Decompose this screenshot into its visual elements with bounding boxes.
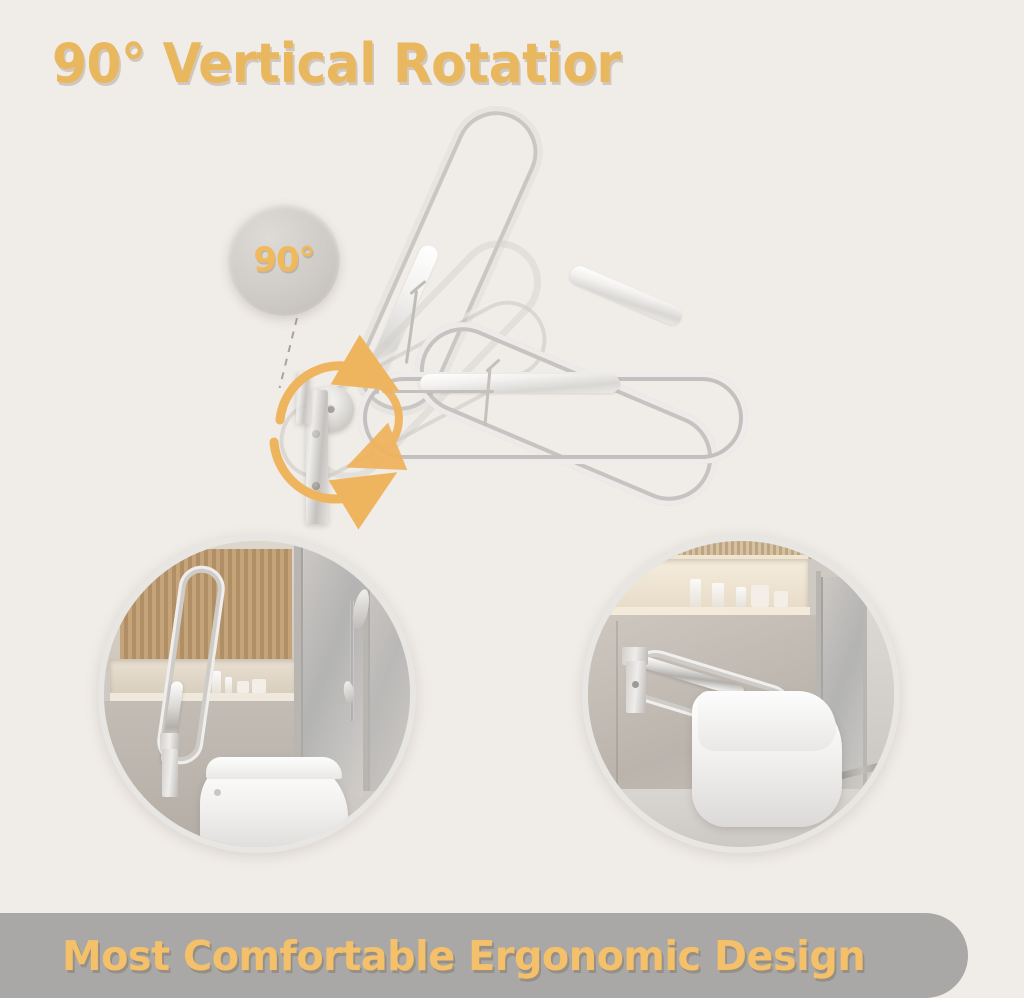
bracket-screw <box>632 681 639 688</box>
bottom-banner-text: Most Comfortable Ergonomic Design <box>62 932 865 980</box>
toiletry-bottle <box>225 677 232 693</box>
hook-accessory-3 <box>382 390 494 393</box>
grip-sleeve-diagonal <box>567 263 685 327</box>
photo-bar-folded-down <box>582 535 900 853</box>
bottom-banner: Most Comfortable Ergonomic Design <box>0 913 968 998</box>
pivot-hinge-pin <box>327 405 335 413</box>
hinge-bracket <box>296 372 310 424</box>
toiletry-jar <box>252 679 266 693</box>
angle-badge: 90° <box>228 204 340 316</box>
hook-accessory-3-tip <box>376 372 379 394</box>
toiletry-jar <box>237 681 249 693</box>
toiletry-bottle <box>736 587 746 607</box>
product-illustration <box>250 90 810 550</box>
photo-bar-folded-up <box>98 535 416 853</box>
toiletry-jar <box>774 591 788 607</box>
toiletry-bottle <box>712 583 724 607</box>
toilet-button <box>214 789 221 796</box>
toiletry-jar <box>751 585 769 607</box>
infographic-page: 90° Vertical Rotatior <box>0 0 1024 998</box>
angle-badge-label: 90° <box>253 240 314 280</box>
wall-plate-screw-2 <box>312 430 320 438</box>
toiletry-bottle <box>212 671 221 693</box>
toiletry-bottle <box>690 579 701 607</box>
wall-plate-screw-1 <box>312 482 320 490</box>
page-title: 90° Vertical Rotatior <box>52 36 621 93</box>
